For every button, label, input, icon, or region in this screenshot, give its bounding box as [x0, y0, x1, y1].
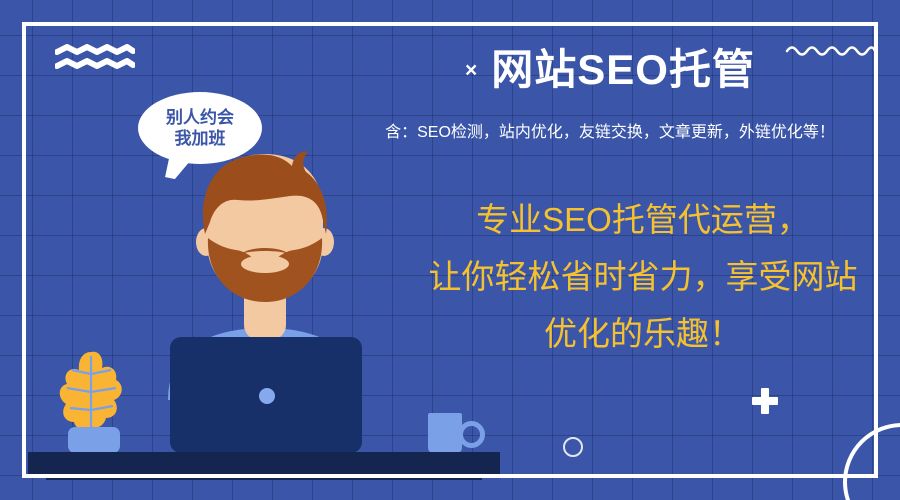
subtitle: 含：SEO检测，站内优化，友链交换，文章更新，外链优化等！ [340, 118, 880, 142]
desk-edge [46, 470, 482, 480]
headline-line-2: 让你轻松省时省力，享受网站 [398, 249, 888, 306]
speech-bubble-line-1: 别人约会 [166, 107, 234, 128]
title-row: × 网站SEO托管 [340, 48, 880, 92]
wave-lines-icon [55, 44, 135, 74]
plant-pot [68, 427, 120, 453]
circle-outline-large-icon [843, 423, 900, 500]
speech-bubble: 别人约会 我加班 [138, 92, 262, 164]
title-bullet-icon: × [465, 60, 477, 81]
headline-line-3: 优化的乐趣！ [398, 306, 888, 363]
coffee-mug-handle [458, 421, 485, 448]
plus-mark-icon [752, 388, 778, 414]
circle-outline-small-icon [563, 437, 583, 457]
page-title: 网站SEO托管 [491, 48, 755, 92]
seo-hosting-banner: 别人约会 我加班 × 网站SEO托管 含：SEO检测，站内优化，友链交换，文章更… [0, 0, 900, 500]
speech-bubble-line-2: 我加班 [175, 128, 226, 149]
laptop-logo-dot-icon [259, 388, 275, 404]
headline: 专业SEO托管代运营， 让你轻松省时省力，享受网站 优化的乐趣！ [398, 192, 888, 362]
headline-line-1: 专业SEO托管代运营， [398, 192, 888, 249]
coffee-mug [428, 413, 462, 453]
